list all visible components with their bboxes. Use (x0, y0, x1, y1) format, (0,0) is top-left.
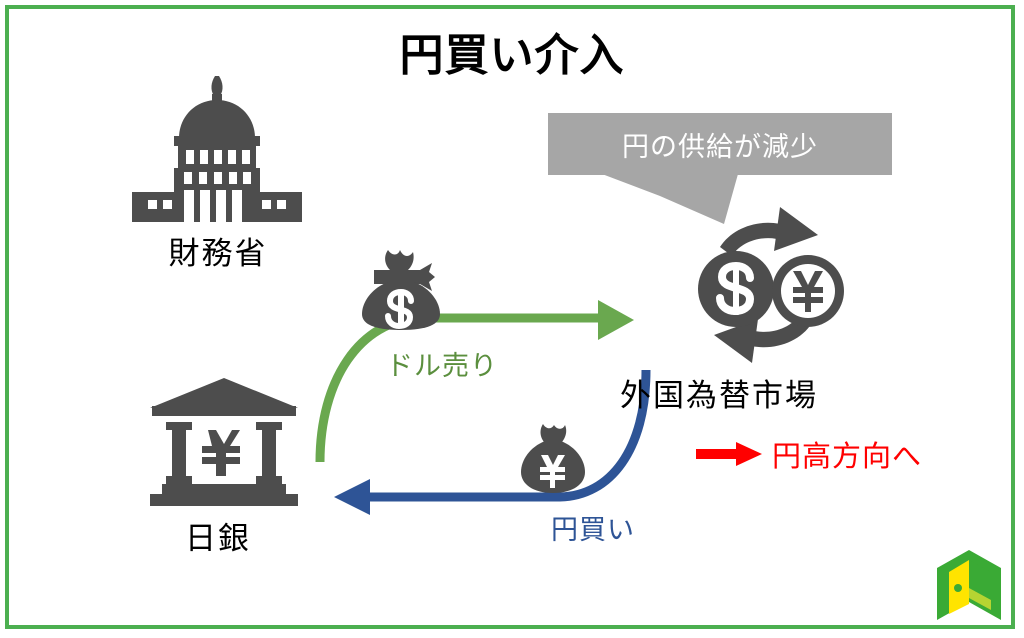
result-callout: 円高方向へ (696, 434, 922, 474)
bank-yen-icon (146, 376, 302, 508)
money-bag-yen-icon (519, 423, 587, 495)
node-label-fx: 外国為替市場 (620, 370, 920, 415)
open-door-bookmark-logo (935, 548, 1003, 622)
speech-bubble-label: 円の供給が減少 (548, 113, 892, 175)
node-label-boj: 日銀 (108, 513, 328, 558)
currency-exchange-icon (678, 205, 854, 365)
flow-arrow-yen-buy (334, 370, 646, 515)
result-label: 円高方向へ (772, 433, 922, 475)
flow-label-yen-buy: 円買い (551, 508, 635, 547)
money-bag-dollar-icon (358, 248, 444, 330)
diagram-canvas: 円買い介入 円の供給が減少 (0, 0, 1024, 638)
government-building-icon (126, 72, 308, 224)
right-arrow-icon (696, 441, 762, 467)
speech-bubble: 円の供給が減少 (548, 113, 892, 213)
flow-label-dollar-sell: ドル売り (386, 344, 498, 383)
node-label-mof: 財務省 (108, 228, 328, 273)
